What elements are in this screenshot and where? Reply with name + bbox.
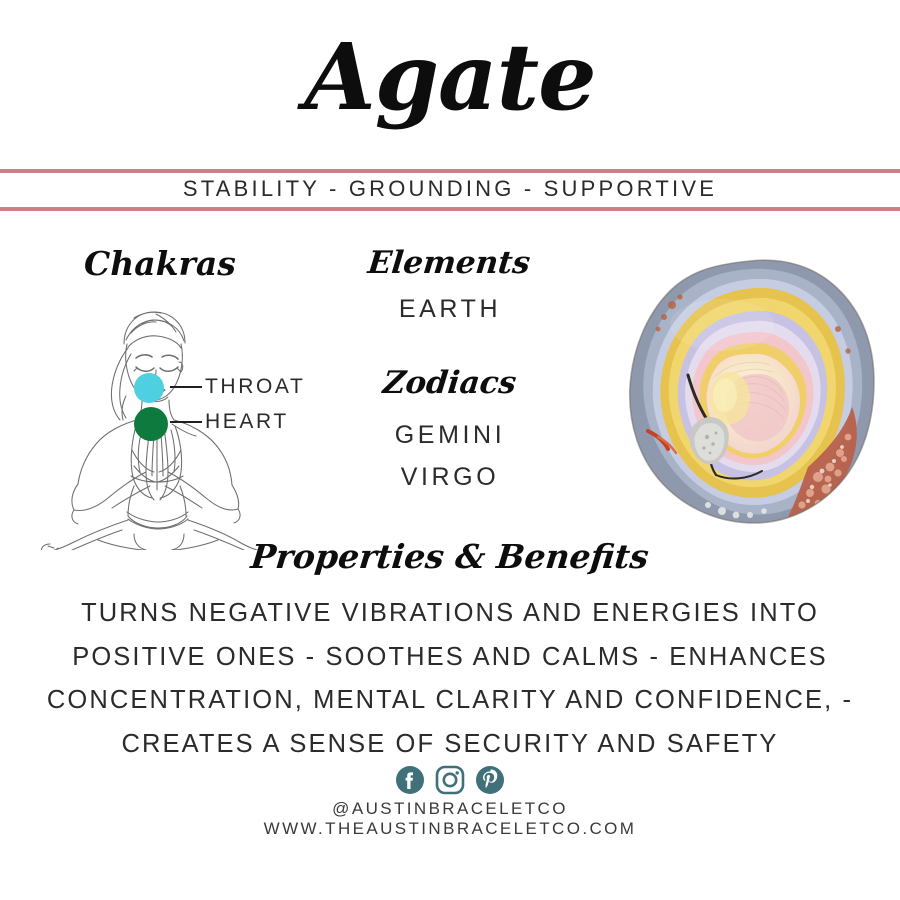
tagline: STABILITY - GROUNDING - SUPPORTIVE (0, 176, 900, 202)
page-title-wrapper: Agate (0, 18, 900, 136)
social-links-row (0, 765, 900, 800)
divider-bottom (0, 207, 900, 211)
facebook-icon[interactable] (395, 765, 425, 800)
instagram-icon[interactable] (435, 765, 465, 800)
elements-heading: Elements (366, 243, 532, 283)
properties-heading: Properties & Benefits (249, 535, 651, 579)
agate-slice-icon (612, 255, 894, 537)
pinterest-icon[interactable] (475, 765, 505, 800)
divider-top (0, 169, 900, 173)
zodiacs-heading: Zodiacs (381, 363, 518, 403)
agate-info-card: Agate STABILITY - GROUNDING - SUPPORTIVE… (0, 0, 900, 900)
website-url[interactable]: WWW.THEAUSTINBRACELETCO.COM (0, 818, 900, 839)
properties-body-text: TURNS NEGATIVE VIBRATIONS AND ENERGIES I… (40, 592, 860, 766)
agate-stone-image (612, 255, 894, 537)
social-handle[interactable]: @AUSTINBRACELETCO (0, 798, 900, 819)
properties-heading-wrapper: Properties & Benefits (0, 535, 900, 579)
page-title: Agate (304, 23, 595, 131)
